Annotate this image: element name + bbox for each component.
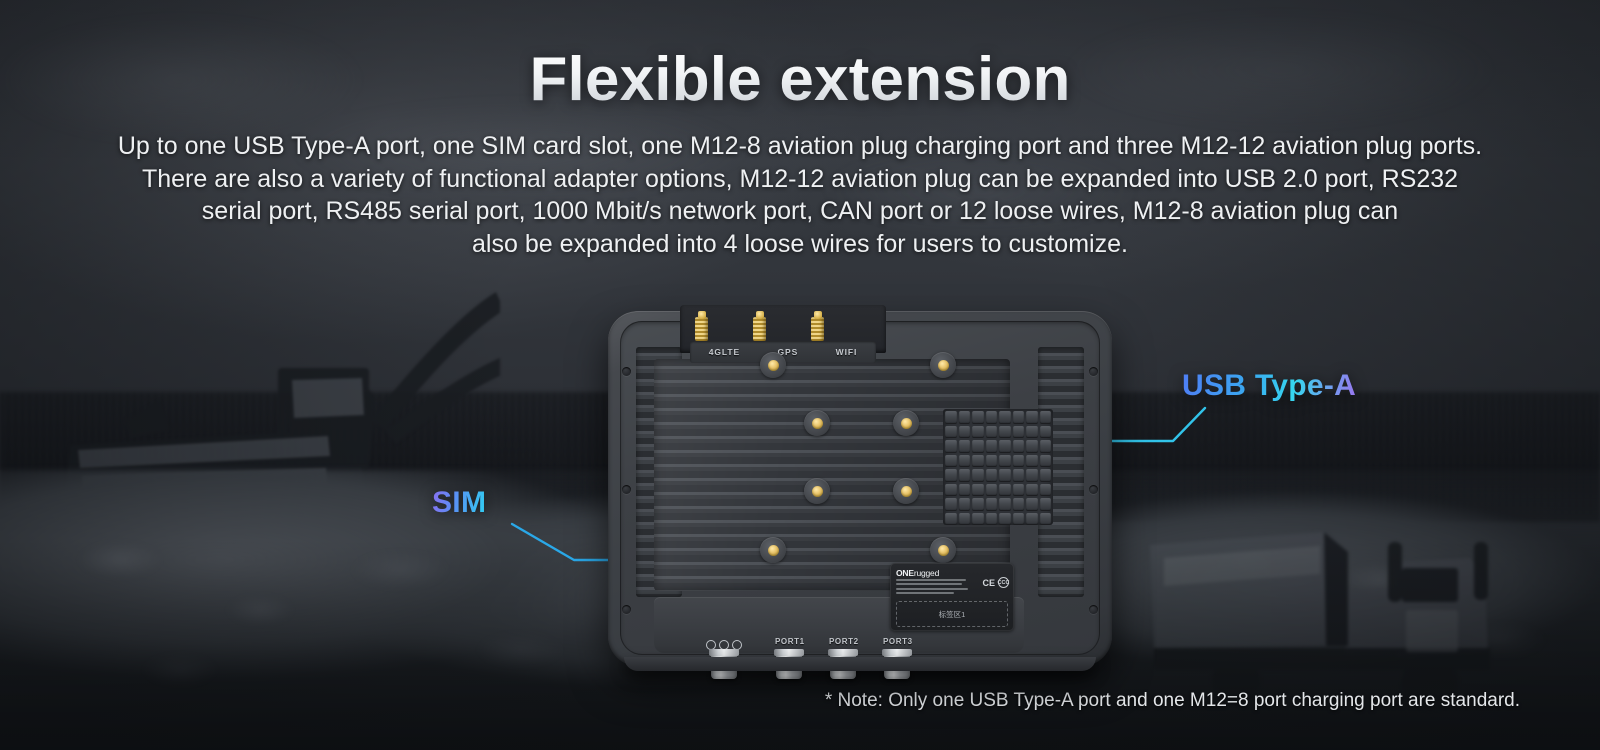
antenna-connector-4glte <box>694 311 709 341</box>
vent-cell <box>972 455 984 468</box>
vent-cell <box>986 440 998 453</box>
label-dashed-area: 标签区1 <box>896 601 1008 627</box>
screw-boss <box>893 410 919 436</box>
vent-cell <box>986 455 998 468</box>
ce-mark: CE <box>982 578 995 588</box>
vent-cell <box>945 484 957 497</box>
vent-cell <box>1040 498 1052 511</box>
certification-marks: CE CCC <box>982 577 1009 588</box>
bumper-screw <box>1089 367 1098 376</box>
ventilation-grid <box>943 409 1053 525</box>
bumper-screw <box>622 485 631 494</box>
vent-cell <box>945 440 957 453</box>
vent-cell <box>959 513 971 526</box>
vent-cell <box>1040 440 1052 453</box>
antenna-label-wifi: WIFI <box>836 347 858 357</box>
screw-boss <box>804 410 830 436</box>
bumper-screw <box>622 605 631 614</box>
screw-boss <box>893 478 919 504</box>
vent-cell <box>1026 513 1038 526</box>
port-label-3: PORT3 <box>883 637 913 646</box>
vent-cell <box>999 411 1011 424</box>
vent-cell <box>1013 498 1025 511</box>
vent-cell <box>999 484 1011 497</box>
vent-cell <box>1013 484 1025 497</box>
vent-cell <box>1013 513 1025 526</box>
vent-cell <box>986 469 998 482</box>
vent-cell <box>1040 455 1052 468</box>
vent-cell <box>1026 469 1038 482</box>
vent-cell <box>999 513 1011 526</box>
product-label-plate: ONErugged CE CCC 标签区1 <box>890 563 1014 631</box>
vent-cell <box>972 440 984 453</box>
vent-cell <box>1013 469 1025 482</box>
bumper-screw <box>1089 605 1098 614</box>
vent-cell <box>1040 513 1052 526</box>
callout-label-usb: USB Type-A <box>1182 369 1356 403</box>
screw-boss <box>760 537 786 563</box>
vent-cell <box>972 426 984 439</box>
vent-cell <box>959 484 971 497</box>
port-label-1: PORT1 <box>775 637 805 646</box>
vent-cell <box>1013 411 1025 424</box>
vent-cell <box>959 440 971 453</box>
vent-cell <box>999 426 1011 439</box>
vent-cell <box>1040 411 1052 424</box>
vent-cell <box>999 498 1011 511</box>
bumper-screw <box>622 367 631 376</box>
screw-boss <box>930 352 956 378</box>
vent-cell <box>959 426 971 439</box>
screw-boss <box>760 352 786 378</box>
port-label-2: PORT2 <box>829 637 859 646</box>
description-line: serial port, RS485 serial port, 1000 Mbi… <box>100 195 1500 228</box>
vent-cell <box>986 513 998 526</box>
vent-cell <box>1026 455 1038 468</box>
callout-label-sim: SIM <box>432 486 486 520</box>
antenna-connector-gps <box>752 311 767 341</box>
device-bottom-rail <box>624 657 1096 671</box>
vent-cell <box>1026 411 1038 424</box>
promo-slide: Flexible extension Up to one USB Type-A … <box>0 0 1600 750</box>
description-line: Up to one USB Type-A port, one SIM card … <box>100 130 1500 163</box>
vent-cell <box>986 484 998 497</box>
vent-cell <box>986 498 998 511</box>
vent-cell <box>1013 455 1025 468</box>
description-line: also be expanded into 4 loose wires for … <box>100 228 1500 261</box>
page-title: Flexible extension <box>0 44 1600 115</box>
vent-cell <box>972 484 984 497</box>
vent-cell <box>1040 484 1052 497</box>
vent-cell <box>945 513 957 526</box>
vent-cell <box>1026 498 1038 511</box>
vent-cell <box>999 440 1011 453</box>
screw-boss <box>804 478 830 504</box>
ccc-mark: CCC <box>998 577 1009 588</box>
rugged-tablet-rear: 4GLTE GPS WIFI ONErugged <box>608 305 1112 671</box>
description-line: There are also a variety of functional a… <box>100 163 1500 196</box>
vent-cell <box>1013 426 1025 439</box>
vent-cell <box>959 469 971 482</box>
vent-cell <box>972 411 984 424</box>
description-block: Up to one USB Type-A port, one SIM card … <box>100 130 1500 260</box>
vent-cell <box>959 498 971 511</box>
vent-cell <box>986 411 998 424</box>
vent-cell <box>1040 469 1052 482</box>
vent-cell <box>1040 426 1052 439</box>
spec-text-lines <box>896 579 970 597</box>
vent-cell <box>1026 440 1038 453</box>
bumper-screw <box>1089 485 1098 494</box>
vent-cell <box>1026 426 1038 439</box>
vent-cell <box>972 469 984 482</box>
vent-cell <box>999 455 1011 468</box>
antenna-label-4glte: 4GLTE <box>709 347 740 357</box>
vent-cell <box>945 426 957 439</box>
vent-cell <box>959 455 971 468</box>
brand-logo: ONErugged <box>896 568 939 578</box>
vent-cell <box>945 498 957 511</box>
vent-cell <box>972 513 984 526</box>
vent-cell <box>945 469 957 482</box>
vent-cell <box>972 498 984 511</box>
vent-cell <box>1013 440 1025 453</box>
antenna-connector-wifi <box>810 311 825 341</box>
vent-cell <box>1026 484 1038 497</box>
vent-cell <box>986 426 998 439</box>
vent-cell <box>999 469 1011 482</box>
screw-boss <box>930 537 956 563</box>
footnote-text: * Note: Only one USB Type-A port and one… <box>700 690 1520 712</box>
vent-cell <box>945 455 957 468</box>
vent-cell <box>959 411 971 424</box>
vent-cell <box>945 411 957 424</box>
